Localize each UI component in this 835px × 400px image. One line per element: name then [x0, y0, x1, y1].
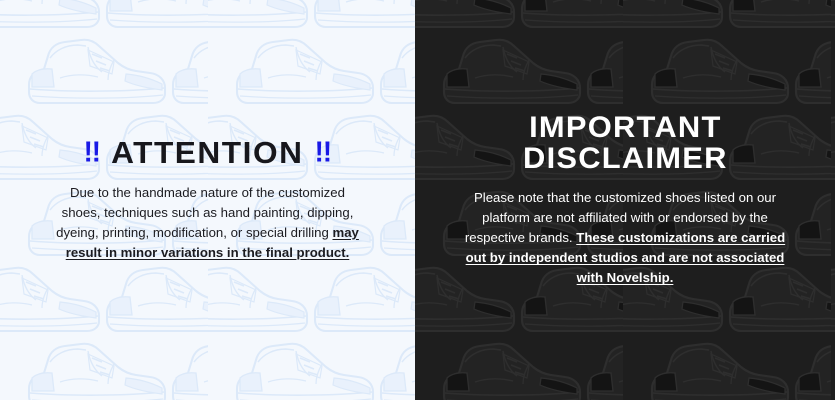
attention-heading-text: ATTENTION	[111, 137, 303, 169]
attention-body-normal: Due to the handmade nature of the custom…	[56, 185, 353, 240]
disclaimer-panel: IMPORTANT DISCLAIMER Please note that th…	[415, 0, 835, 400]
attention-content: !! ATTENTION !! Due to the handmade natu…	[0, 137, 415, 263]
attention-body: Due to the handmade nature of the custom…	[53, 183, 363, 263]
disclaimer-heading: IMPORTANT DISCLAIMER	[523, 112, 728, 176]
disclaimer-body: Please note that the customized shoes li…	[464, 188, 786, 288]
attention-heading: !! ATTENTION !!	[84, 137, 331, 169]
disclaimer-heading-line1: IMPORTANT	[529, 112, 721, 144]
attention-panel: !! ATTENTION !! Due to the handmade natu…	[0, 0, 415, 400]
promo-banner: !! ATTENTION !! Due to the handmade natu…	[0, 0, 835, 400]
disclaimer-heading-line2: DISCLAIMER	[523, 143, 728, 175]
double-exclamation-right-icon: !!	[315, 138, 331, 167]
double-exclamation-left-icon: !!	[84, 138, 100, 167]
disclaimer-content: IMPORTANT DISCLAIMER Please note that th…	[415, 112, 835, 289]
